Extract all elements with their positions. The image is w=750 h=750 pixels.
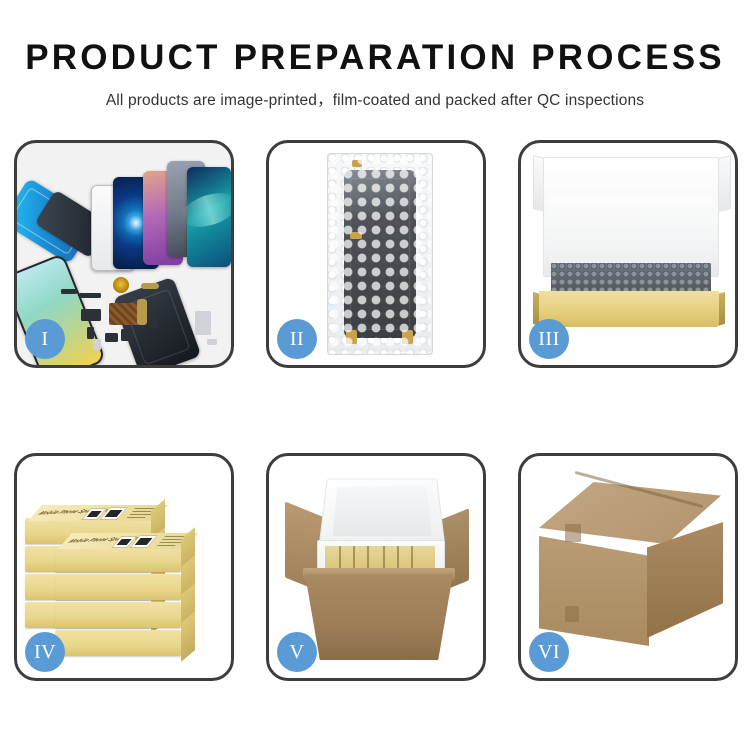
step-badge-6: VI (529, 632, 569, 672)
antenna-strip (61, 289, 77, 294)
product-preparation-infographic: PRODUCT PREPARATION PROCESS All products… (0, 0, 750, 750)
adhesive-tab-middle (350, 232, 362, 239)
step-badge-5: V (277, 632, 317, 672)
wrapped-screen (344, 170, 416, 338)
stacked-box-front-1: Mobile Phone Spare Parts (55, 546, 181, 572)
connector-small-1 (87, 327, 94, 339)
step-badge-4: IV (25, 632, 65, 672)
foam-box-lid (319, 479, 446, 546)
box-spec-line (126, 517, 146, 518)
adhesive-tab-top (352, 160, 362, 167)
stacked-box-front-4 (55, 630, 181, 656)
adhesive-tab-bottom-left (346, 330, 357, 344)
box-spec-line (161, 539, 183, 540)
camera-module (81, 309, 101, 321)
ribbon-cable-1 (79, 293, 101, 298)
step-badge-3: III (529, 319, 569, 359)
box-lid-face: Mobile Phone Spare Parts (28, 505, 167, 521)
grey-foam-insert (551, 263, 711, 293)
screw-set (149, 319, 158, 328)
process-step-5: V (266, 453, 486, 681)
step-badge-2: II (277, 319, 317, 359)
phone-display-teal (187, 167, 231, 267)
vibration-motor (121, 329, 133, 341)
tweezers-tool (195, 311, 211, 335)
page-subtitle: All products are image-printed，film-coat… (0, 88, 750, 110)
stacked-box-front-3 (55, 602, 181, 628)
header: PRODUCT PREPARATION PROCESS All products… (0, 0, 750, 110)
stacked-box-front-2 (55, 574, 181, 600)
box-spec-line (159, 542, 183, 543)
process-step-1: I (14, 140, 234, 368)
carton-front-face (539, 536, 649, 646)
page-title: PRODUCT PREPARATION PROCESS (0, 40, 750, 77)
process-step-grid: I II (14, 140, 738, 681)
white-foam-sheet (549, 195, 711, 263)
logic-board-component (109, 303, 139, 325)
small-part (207, 339, 217, 345)
carton-tape-upper (565, 524, 581, 542)
connector-small-2 (105, 333, 118, 342)
box-lid-face: Mobile Phone Spare Parts (58, 533, 197, 549)
process-step-6: VI (518, 453, 738, 681)
step-badge-1: I (25, 319, 65, 359)
box-spec-line (129, 514, 153, 515)
adhesive-tab-bottom-right (402, 330, 413, 344)
flex-cable-2 (137, 299, 147, 325)
carton-tape-lower (565, 606, 579, 622)
carton-body (305, 574, 453, 660)
box-spec-line (131, 511, 153, 512)
process-step-3: III (518, 140, 738, 368)
speaker-component (113, 277, 129, 293)
box-base-yellow (539, 291, 719, 327)
sim-tray (93, 339, 101, 350)
box-spec-line (156, 545, 176, 546)
flex-cable-1 (141, 283, 159, 289)
process-step-4: Mobile Phone Spare Parts (14, 453, 234, 681)
bubble-wrap-bag (327, 153, 433, 355)
process-step-2: II (266, 140, 486, 368)
